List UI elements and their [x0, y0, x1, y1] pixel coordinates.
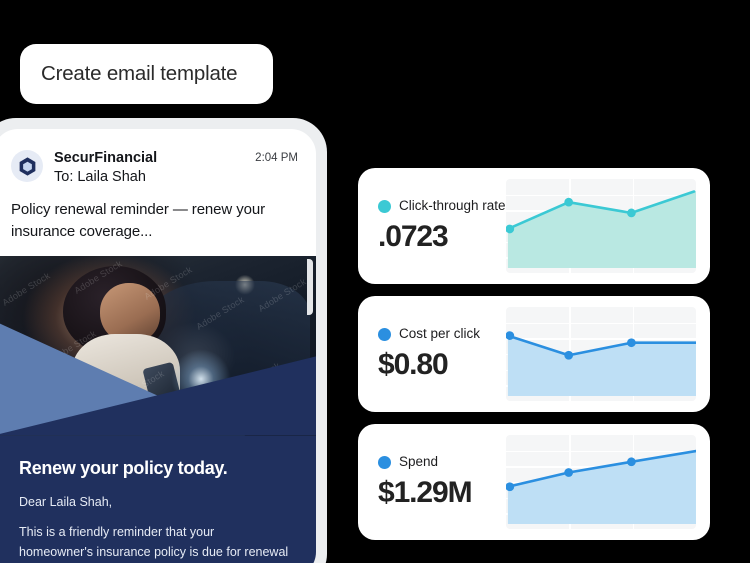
metric-sparkline-chart — [506, 307, 696, 401]
email-body-heading: Renew your policy today. — [19, 458, 290, 479]
email-sender-name: SecurFinancial — [54, 149, 244, 168]
metric-value: .0723 — [378, 220, 506, 254]
email-hero-image: Adobe Stock Adobe Stock Adobe Stock Adob… — [0, 256, 316, 436]
legend-dot-icon — [378, 328, 391, 341]
metric-card[interactable]: Click-through rate .0723 — [358, 168, 710, 284]
metric-value: $1.29M — [378, 476, 506, 510]
email-timestamp: 2:04 PM — [255, 152, 298, 164]
legend-dot-icon — [378, 200, 391, 213]
email-body-greeting: Dear Laila Shah, — [19, 495, 290, 509]
email-sender-text: SecurFinancial To: Laila Shah — [54, 149, 244, 186]
hexagon-logo-icon — [11, 150, 43, 182]
metric-card-info: Cost per click $0.80 — [378, 326, 506, 382]
metric-card[interactable]: Spend $1.29M — [358, 424, 710, 540]
create-email-template-label: Create email template — [41, 62, 237, 86]
metric-legend-row: Click-through rate — [378, 198, 506, 215]
metric-sparkline-chart — [506, 435, 696, 529]
metric-value: $0.80 — [378, 348, 506, 382]
screenshot-canvas: Create email template SecurFinancial To:… — [0, 0, 750, 563]
phone-side-button[interactable] — [307, 259, 313, 315]
phone-mockup: SecurFinancial To: Laila Shah 2:04 PM Po… — [0, 118, 327, 563]
email-header: SecurFinancial To: Laila Shah 2:04 PM Po… — [0, 129, 316, 243]
sparkline-markers — [506, 179, 696, 268]
phone-screen: SecurFinancial To: Laila Shah 2:04 PM Po… — [0, 129, 316, 563]
email-body: Renew your policy today. Dear Laila Shah… — [0, 436, 316, 563]
metric-label: Click-through rate — [399, 198, 506, 215]
metric-sparkline-chart — [506, 179, 696, 273]
email-sender-row: SecurFinancial To: Laila Shah 2:04 PM — [11, 149, 298, 186]
metric-legend-row: Cost per click — [378, 326, 506, 343]
metric-cards-panel: Click-through rate .0723 — [358, 168, 710, 540]
metric-card-info: Click-through rate .0723 — [378, 198, 506, 254]
metric-card[interactable]: Cost per click $0.80 — [358, 296, 710, 412]
legend-dot-icon — [378, 456, 391, 469]
metric-label: Cost per click — [399, 326, 480, 343]
metric-card-info: Spend $1.29M — [378, 454, 506, 510]
email-recipient: To: Laila Shah — [54, 168, 244, 187]
email-subject: Policy renewal reminder — renew your ins… — [11, 199, 298, 243]
email-body-paragraph: This is a friendly reminder that your ho… — [19, 522, 290, 563]
metric-label: Spend — [399, 454, 438, 471]
sparkline-markers — [506, 435, 696, 524]
metric-legend-row: Spend — [378, 454, 506, 471]
create-email-template-button[interactable]: Create email template — [20, 44, 273, 104]
sparkline-markers — [506, 307, 696, 396]
